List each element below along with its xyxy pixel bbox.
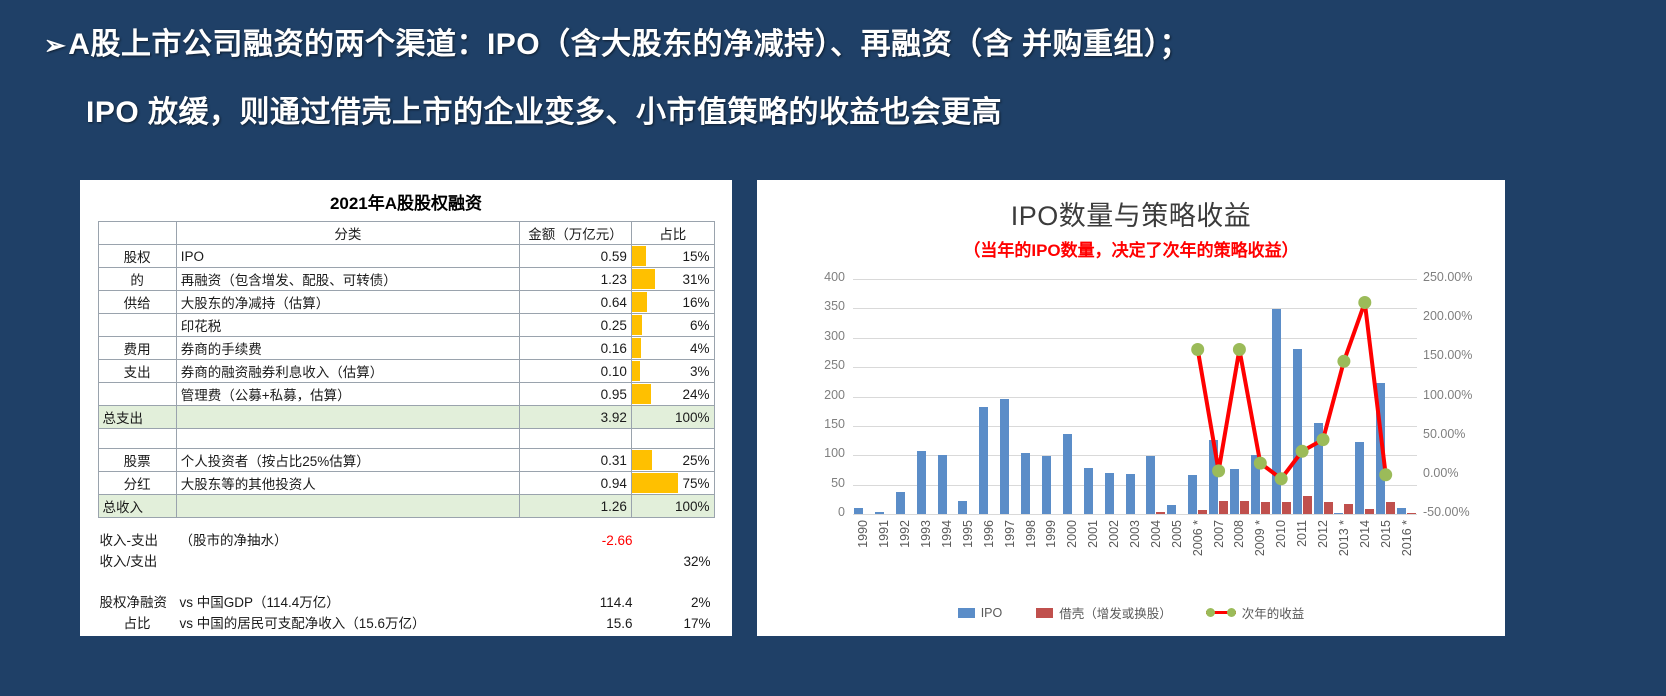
y-axis-right-tick: 100.00% xyxy=(1423,388,1497,402)
pct-value: 24% xyxy=(682,387,709,402)
heading-line-1: ➢A股上市公司融资的两个渠道：IPO（含大股东的净减持）、再融资（含 并购重组）… xyxy=(44,22,1626,68)
table-cell-category: 印花税 xyxy=(176,314,519,337)
legend-swatch-shell xyxy=(1036,608,1053,618)
table-cell-pct: 16% xyxy=(631,291,714,314)
chart-legend: IPO借壳（增发或换股）次年的收益 xyxy=(757,603,1505,622)
x-axis-tick: 2010 xyxy=(1274,520,1288,548)
y-axis-right-tick: 150.00% xyxy=(1423,348,1497,362)
table-row: 管理费（公募+私募，估算）0.9524% xyxy=(98,383,714,406)
y-axis-left-tick: 350 xyxy=(791,299,845,313)
table-cell-category: IPO xyxy=(176,245,519,268)
table-cell-amount: 1.26 xyxy=(520,495,632,518)
table-cell-amount: 0.95 xyxy=(520,383,632,406)
footer-amount: -2.66 xyxy=(536,533,639,548)
return-marker xyxy=(1191,343,1204,356)
table-row: 供给大股东的净减持（估算）0.6416% xyxy=(98,291,714,314)
table-cell-amount: 0.64 xyxy=(520,291,632,314)
table-cell-amount: 1.23 xyxy=(520,268,632,291)
table-header-category: 分类 xyxy=(176,222,519,245)
table-cell-category: 再融资（包含增发、配股、可转债） xyxy=(176,268,519,291)
x-axis-tick: 1996 xyxy=(982,520,996,548)
table-cell-group: 支出 xyxy=(98,360,176,383)
legend-label-shell: 借壳（增发或换股） xyxy=(1059,603,1172,622)
pct-bar xyxy=(632,292,647,312)
table-cell-category: 券商的融资融券利息收入（估算） xyxy=(176,360,519,383)
table-cell-pct: 4% xyxy=(631,337,714,360)
table-row: 股权IPO0.5915% xyxy=(98,245,714,268)
table-cell-group: 分红 xyxy=(98,472,176,495)
x-axis-labels: 1990199119921993199419951996199719981999… xyxy=(853,520,1417,616)
x-axis-tick: 1992 xyxy=(898,520,912,548)
return-marker xyxy=(1212,464,1225,477)
pct-bar xyxy=(632,315,642,335)
table-cell-group: 供给 xyxy=(98,291,176,314)
x-axis-tick: 2004 xyxy=(1149,520,1163,548)
footer-amount: 114.4 xyxy=(536,595,639,610)
table-row-total-expense: 总支出3.92100% xyxy=(98,406,714,429)
legend-swatch-return xyxy=(1206,607,1236,618)
pct-bar xyxy=(632,450,652,470)
return-marker xyxy=(1275,472,1288,485)
table-cell-amount: 3.92 xyxy=(520,406,632,429)
pct-value: 31% xyxy=(682,272,709,287)
pct-bar xyxy=(632,269,655,289)
return-marker xyxy=(1358,296,1371,309)
y-axis-right-tick: 50.00% xyxy=(1423,427,1497,441)
return-marker xyxy=(1254,457,1267,470)
chart-subtitle: （当年的IPO数量，决定了次年的策略收益） xyxy=(757,233,1505,261)
pct-bar xyxy=(632,361,640,381)
table-cell-pct: 31% xyxy=(631,268,714,291)
footer-label: 收入/支出 xyxy=(98,550,180,570)
footer-label: 占比 xyxy=(98,612,180,632)
x-axis-tick: 1999 xyxy=(1044,520,1058,548)
line-series-overlay xyxy=(853,279,1417,514)
x-axis-tick: 2013 * xyxy=(1337,520,1351,556)
x-axis-tick: 2012 xyxy=(1316,520,1330,548)
table-cell-amount: 0.94 xyxy=(520,472,632,495)
y-axis-right-tick: 250.00% xyxy=(1423,270,1497,284)
pct-value: 16% xyxy=(682,295,709,310)
table-cell-category: 个人投资者（按占比25%估算） xyxy=(176,449,519,472)
footer-row: 收入-支出（股市的净抽水）-2.66 xyxy=(98,529,715,550)
x-axis-tick: 1991 xyxy=(877,520,891,548)
table-title: 2021年A股股权融资 xyxy=(80,180,732,221)
ipo-chart-panel: IPO数量与策略收益 （当年的IPO数量，决定了次年的策略收益） 0501001… xyxy=(757,180,1505,636)
table-header-pct: 占比 xyxy=(631,222,714,245)
x-axis-tick: 2002 xyxy=(1107,520,1121,548)
table-cell-category: 大股东等的其他投资人 xyxy=(176,472,519,495)
table-cell-amount: 0.59 xyxy=(520,245,632,268)
footer-desc: vs 中国的居民可支配净收入（15.6万亿） xyxy=(180,612,536,632)
pct-value: 4% xyxy=(690,341,710,356)
table-cell-pct: 6% xyxy=(631,314,714,337)
legend-swatch-ipo xyxy=(958,608,975,618)
slide-heading: ➢A股上市公司融资的两个渠道：IPO（含大股东的净减持）、再融资（含 并购重组）… xyxy=(0,0,1666,136)
table-header-row: 分类金额（万亿元）占比 xyxy=(98,222,714,245)
bullet-arrow-icon: ➢ xyxy=(44,30,66,60)
footer-pct: 17% xyxy=(639,616,715,631)
pct-value: 6% xyxy=(690,318,710,333)
x-axis-tick: 2011 xyxy=(1295,520,1309,547)
x-axis-tick: 2000 xyxy=(1065,520,1079,548)
x-axis-tick: 2007 xyxy=(1212,520,1226,548)
table-cell-category xyxy=(176,406,519,429)
footer-label: 收入-支出 xyxy=(98,529,180,549)
table-cell-amount: 0.16 xyxy=(520,337,632,360)
footer-amount: 15.6 xyxy=(536,616,639,631)
x-axis-tick: 1997 xyxy=(1003,520,1017,548)
table-cell-pct: 25% xyxy=(631,449,714,472)
legend-item-shell[interactable]: 借壳（增发或换股） xyxy=(1036,603,1172,622)
table-header-amount: 金额（万亿元） xyxy=(520,222,632,245)
table-row: 的再融资（包含增发、配股、可转债）1.2331% xyxy=(98,268,714,291)
y-axis-left-tick: 300 xyxy=(791,329,845,343)
return-marker xyxy=(1379,468,1392,481)
return-marker xyxy=(1296,445,1309,458)
pct-bar xyxy=(632,338,641,358)
pct-bar xyxy=(632,384,651,404)
footer-row: 占比vs 中国的居民可支配净收入（15.6万亿）15.617% xyxy=(98,612,715,633)
footer-pct: 32% xyxy=(639,554,715,569)
footer-desc: vs 中国GDP（114.4万亿） xyxy=(180,591,536,611)
footer-row: 收入/支出32% xyxy=(98,550,715,571)
table-cell-category: 管理费（公募+私募，估算） xyxy=(176,383,519,406)
return-marker xyxy=(1233,343,1246,356)
legend-item-ipo[interactable]: IPO xyxy=(958,606,1003,620)
return-marker xyxy=(1337,355,1350,368)
legend-label-ipo: IPO xyxy=(981,606,1003,620)
footer-pct: 2% xyxy=(639,595,715,610)
table-cell-category xyxy=(176,495,519,518)
x-axis-tick: 1994 xyxy=(940,520,954,548)
table-cell-category: 大股东的净减持（估算） xyxy=(176,291,519,314)
table-cell-pct: 3% xyxy=(631,360,714,383)
chart-title: IPO数量与策略收益 xyxy=(757,180,1505,233)
y-axis-left-tick: 200 xyxy=(791,388,845,402)
spacer-cell xyxy=(631,429,714,449)
table-cell-pct: 100% xyxy=(631,495,714,518)
x-axis-tick: 2005 xyxy=(1170,520,1184,548)
equity-financing-table-panel: 2021年A股股权融资 分类金额（万亿元）占比股权IPO0.5915%的再融资（… xyxy=(80,180,732,636)
legend-item-return[interactable]: 次年的收益 xyxy=(1206,603,1305,622)
x-axis-tick: 1990 xyxy=(856,520,870,548)
table-cell-group: 总收入 xyxy=(98,495,176,518)
y-axis-right-tick: -50.00% xyxy=(1423,505,1497,519)
x-axis-tick: 2008 xyxy=(1232,520,1246,548)
table-cell-group: 股票 xyxy=(98,449,176,472)
table-cell-group xyxy=(98,314,176,337)
spacer-cell xyxy=(98,429,176,449)
return-marker xyxy=(1317,433,1330,446)
y-axis-left-tick: 150 xyxy=(791,417,845,431)
table-cell-group xyxy=(98,383,176,406)
y-axis-left-tick: 400 xyxy=(791,270,845,284)
x-axis-tick: 2003 xyxy=(1128,520,1142,548)
x-axis-tick: 2001 xyxy=(1086,520,1100,548)
y-axis-left-tick: 100 xyxy=(791,446,845,460)
equity-financing-table: 分类金额（万亿元）占比股权IPO0.5915%的再融资（包含增发、配股、可转债）… xyxy=(98,221,715,518)
table-cell-group: 总支出 xyxy=(98,406,176,429)
x-axis-tick: 1998 xyxy=(1024,520,1038,548)
footer-desc: （股市的净抽水） xyxy=(180,529,536,549)
table-row: 支出券商的融资融券利息收入（估算）0.103% xyxy=(98,360,714,383)
table-row: 印花税0.256% xyxy=(98,314,714,337)
footer-spacer xyxy=(98,571,715,591)
y-axis-left-tick: 250 xyxy=(791,358,845,372)
table-cell-amount: 0.25 xyxy=(520,314,632,337)
table-row: 分红大股东等的其他投资人0.9475% xyxy=(98,472,714,495)
x-axis-tick: 2014 xyxy=(1358,520,1372,548)
legend-label-return: 次年的收益 xyxy=(1242,603,1305,622)
table-cell-pct: 75% xyxy=(631,472,714,495)
table-row: 股票个人投资者（按占比25%估算）0.3125% xyxy=(98,449,714,472)
table-cell-amount: 0.10 xyxy=(520,360,632,383)
gridline xyxy=(853,514,1417,515)
x-axis-tick: 2016 * xyxy=(1400,520,1414,556)
pct-bar xyxy=(632,473,678,493)
x-axis-tick: 1995 xyxy=(961,520,975,548)
pct-value: 75% xyxy=(682,476,709,491)
x-axis-tick: 2015 xyxy=(1379,520,1393,548)
table-cell-group: 费用 xyxy=(98,337,176,360)
table-footer-block: 收入-支出（股市的净抽水）-2.66收入/支出32%股权净融资vs 中国GDP（… xyxy=(98,529,715,633)
y-axis-left-tick: 50 xyxy=(791,476,845,490)
table-cell-group: 的 xyxy=(98,268,176,291)
heading-line-2: IPO 放缓，则通过借壳上市的企业变多、小市值策略的收益也会更高 xyxy=(44,90,1626,136)
table-cell-amount: 0.31 xyxy=(520,449,632,472)
y-axis-left-tick: 0 xyxy=(791,505,845,519)
footer-label: 股权净融资 xyxy=(98,591,180,611)
table-cell-pct: 100% xyxy=(631,406,714,429)
heading-line-1-text: A股上市公司融资的两个渠道：IPO（含大股东的净减持）、再融资（含 并购重组）； xyxy=(68,28,1190,61)
table-row-total-income: 总收入1.26100% xyxy=(98,495,714,518)
table-header-group xyxy=(98,222,176,245)
pct-value: 25% xyxy=(682,453,709,468)
chart-plot-area: 050100150200250300350400-50.00%0.00%50.0… xyxy=(757,261,1505,591)
pct-value: 3% xyxy=(690,364,710,379)
table-row: 费用券商的手续费0.164% xyxy=(98,337,714,360)
table-cell-category: 券商的手续费 xyxy=(176,337,519,360)
table-cell-group: 股权 xyxy=(98,245,176,268)
table-cell-pct: 15% xyxy=(631,245,714,268)
x-axis-tick: 2006 * xyxy=(1191,520,1205,556)
table-row-spacer xyxy=(98,429,714,449)
x-axis-tick: 2009 * xyxy=(1253,520,1267,556)
pct-value: 15% xyxy=(682,249,709,264)
spacer-cell xyxy=(176,429,519,449)
return-line xyxy=(1198,303,1386,479)
footer-row: 股权净融资vs 中国GDP（114.4万亿）114.42% xyxy=(98,591,715,612)
x-axis-tick: 1993 xyxy=(919,520,933,548)
pct-bar xyxy=(632,246,646,266)
table-cell-pct: 24% xyxy=(631,383,714,406)
y-axis-right-tick: 200.00% xyxy=(1423,309,1497,323)
spacer-cell xyxy=(520,429,632,449)
y-axis-right-tick: 0.00% xyxy=(1423,466,1497,480)
